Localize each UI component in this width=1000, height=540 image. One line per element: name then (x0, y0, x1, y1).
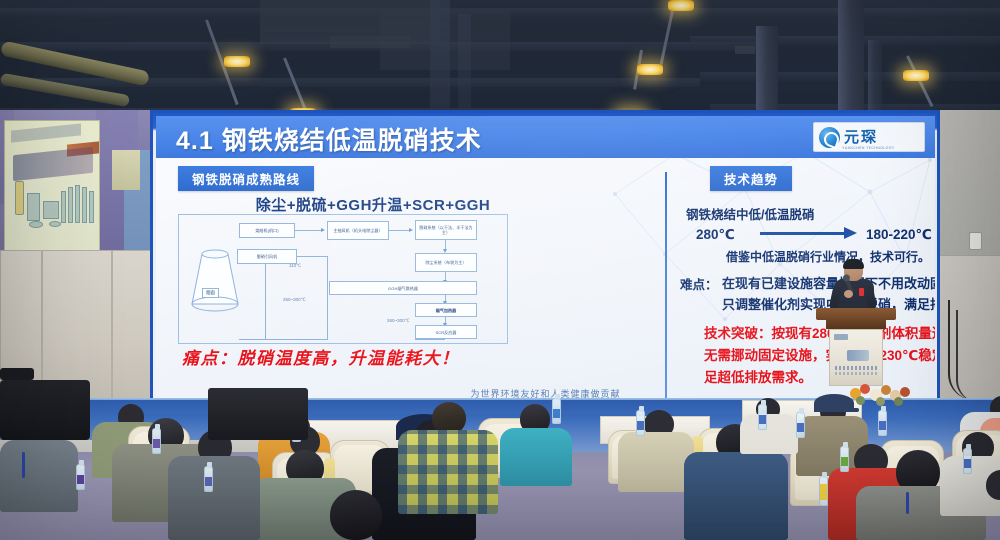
ceiling-lamp (668, 0, 694, 11)
character-water-bottle (819, 476, 828, 506)
podium-emblem-icon (847, 350, 869, 361)
water-bottle (878, 410, 887, 436)
arrow-icon (760, 232, 846, 235)
chimney-illustration: 烟囱 (184, 244, 246, 316)
company-logo-subtext: YUANCHEN TECHNOLOGY (842, 146, 895, 150)
flow-node: SCR反应器 (415, 325, 477, 339)
flow-node: 烧结机(机口) (239, 223, 295, 238)
trend-note: 借鉴中低温脱硝行业情况，技术可行。 (726, 248, 930, 265)
camera-rig (0, 380, 90, 440)
water-bottle (758, 404, 767, 430)
podium (816, 308, 896, 386)
flow-node: 除尘系统（布袋为主） (415, 253, 477, 272)
name-badge (859, 288, 864, 296)
flow-node: 脱硫系统（以干法、半干法为主） (415, 220, 477, 240)
flow-node: GGH烟气换热器 (329, 281, 477, 295)
ceiling-lamp (903, 70, 929, 81)
exhibition-poster (4, 120, 100, 270)
temp-from: 280℃ (696, 227, 735, 243)
power-cable (956, 310, 978, 402)
water-bottle (840, 446, 849, 472)
water-bottle (552, 398, 561, 424)
camera-rig (208, 388, 308, 440)
trend-heading: 钢铁烧结中低/低温脱硝 (686, 204, 814, 223)
flow-temperature: 260~300℃ (283, 297, 306, 303)
flower-arrangement (846, 382, 916, 408)
left-panel-tag: 钢铁脱硝成熟路线 (178, 166, 314, 191)
booth-beige-panel (112, 150, 140, 190)
company-logo-text: 元琛 (844, 130, 878, 145)
ceiling-lamp (637, 64, 663, 75)
slide-title: 4.1 钢铁烧结低温脱硝技术 (176, 121, 482, 157)
right-panel-tag: 技术趋势 (710, 166, 792, 191)
chimney-label: 烟囱 (202, 288, 219, 298)
flow-node: 主抽风机（机头电除尘器） (327, 221, 389, 240)
difficulty-line-1: 在现有已建设施容量情况下不用改动固定设施， (722, 273, 935, 292)
arrow-head-icon (844, 227, 857, 239)
conference-photo: 4.1 钢铁烧结低温脱硝技术 元琛 YUANCHEN TECHNOLOGY 钢铁… (0, 0, 1000, 540)
company-logo: 元琛 YUANCHEN TECHNOLOGY (813, 122, 925, 152)
water-bottle (152, 428, 161, 454)
water-bottle (636, 410, 645, 436)
camera-arm (0, 368, 34, 380)
temperature-transition: 280℃ 180-220℃ (696, 224, 935, 246)
breakthrough-line-3: 足超低排放需求。 (704, 366, 812, 386)
water-bottle (204, 466, 213, 492)
water-bottle (963, 448, 972, 474)
left-panel-subtitle: 除尘+脱硫+GGH升温+SCR+GGH (208, 194, 538, 215)
wall-switch-plate[interactable] (969, 232, 982, 250)
company-swoosh-icon (819, 127, 840, 148)
column-divider (665, 172, 667, 404)
flow-node: 脱硝引风机 (237, 249, 297, 264)
flow-temperature: 260~300℃ (387, 318, 410, 324)
ceiling-lamp (224, 56, 250, 67)
temp-to: 180-220℃ (866, 227, 932, 243)
water-bottle (796, 412, 805, 438)
flow-node: 烟气加热器 (415, 303, 477, 317)
difficulty-label: 难点： (680, 274, 718, 293)
pain-point-text: 痛点：脱硝温度高，升温能耗大！ (182, 344, 460, 369)
slide-header-bar: 4.1 钢铁烧结低温脱硝技术 元琛 YUANCHEN TECHNOLOGY (156, 116, 935, 158)
podium-logo-icon (834, 334, 848, 340)
water-bottle (76, 464, 85, 490)
